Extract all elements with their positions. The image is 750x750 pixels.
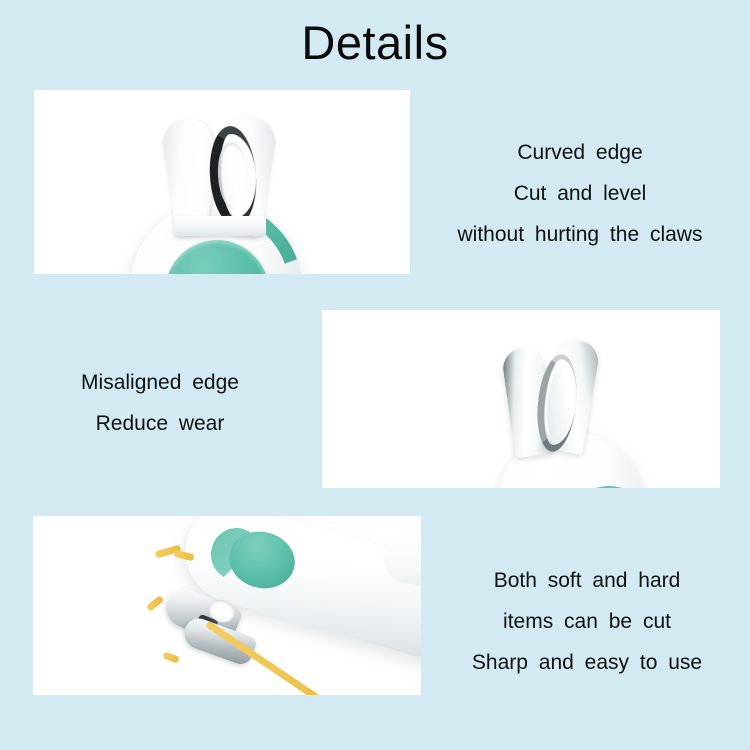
page-title: Details <box>0 14 750 72</box>
photo-stage <box>322 310 720 488</box>
caption-line: items can be cut <box>434 601 740 642</box>
caption-line: Sharp and easy to use <box>434 642 740 683</box>
misaligned-edge-caption: Misaligned edge Reduce wear <box>20 362 300 444</box>
jaw-base-joint <box>174 216 266 236</box>
product-detail-page: Details <box>0 0 750 750</box>
caption-line: Cut and level <box>418 173 742 214</box>
yellow-fragment <box>162 651 179 663</box>
curved-edge-clipper-head-photo <box>34 90 410 274</box>
yellow-fragment <box>146 595 164 612</box>
misaligned-edge-clipper-photo <box>322 310 720 488</box>
cutting-demo-photo <box>33 516 421 695</box>
photo-stage <box>33 516 421 695</box>
caption-line: Misaligned edge <box>20 362 300 403</box>
soft-and-hard-caption: Both soft and hard items can be cut Shar… <box>434 560 740 683</box>
caption-line: Curved edge <box>418 132 742 173</box>
caption-line: Reduce wear <box>20 403 300 444</box>
caption-line: Both soft and hard <box>434 560 740 601</box>
caption-line: without hurting the claws <box>418 214 742 255</box>
photo-stage <box>34 90 410 274</box>
curved-edge-caption: Curved edge Cut and level without hurtin… <box>418 132 742 255</box>
